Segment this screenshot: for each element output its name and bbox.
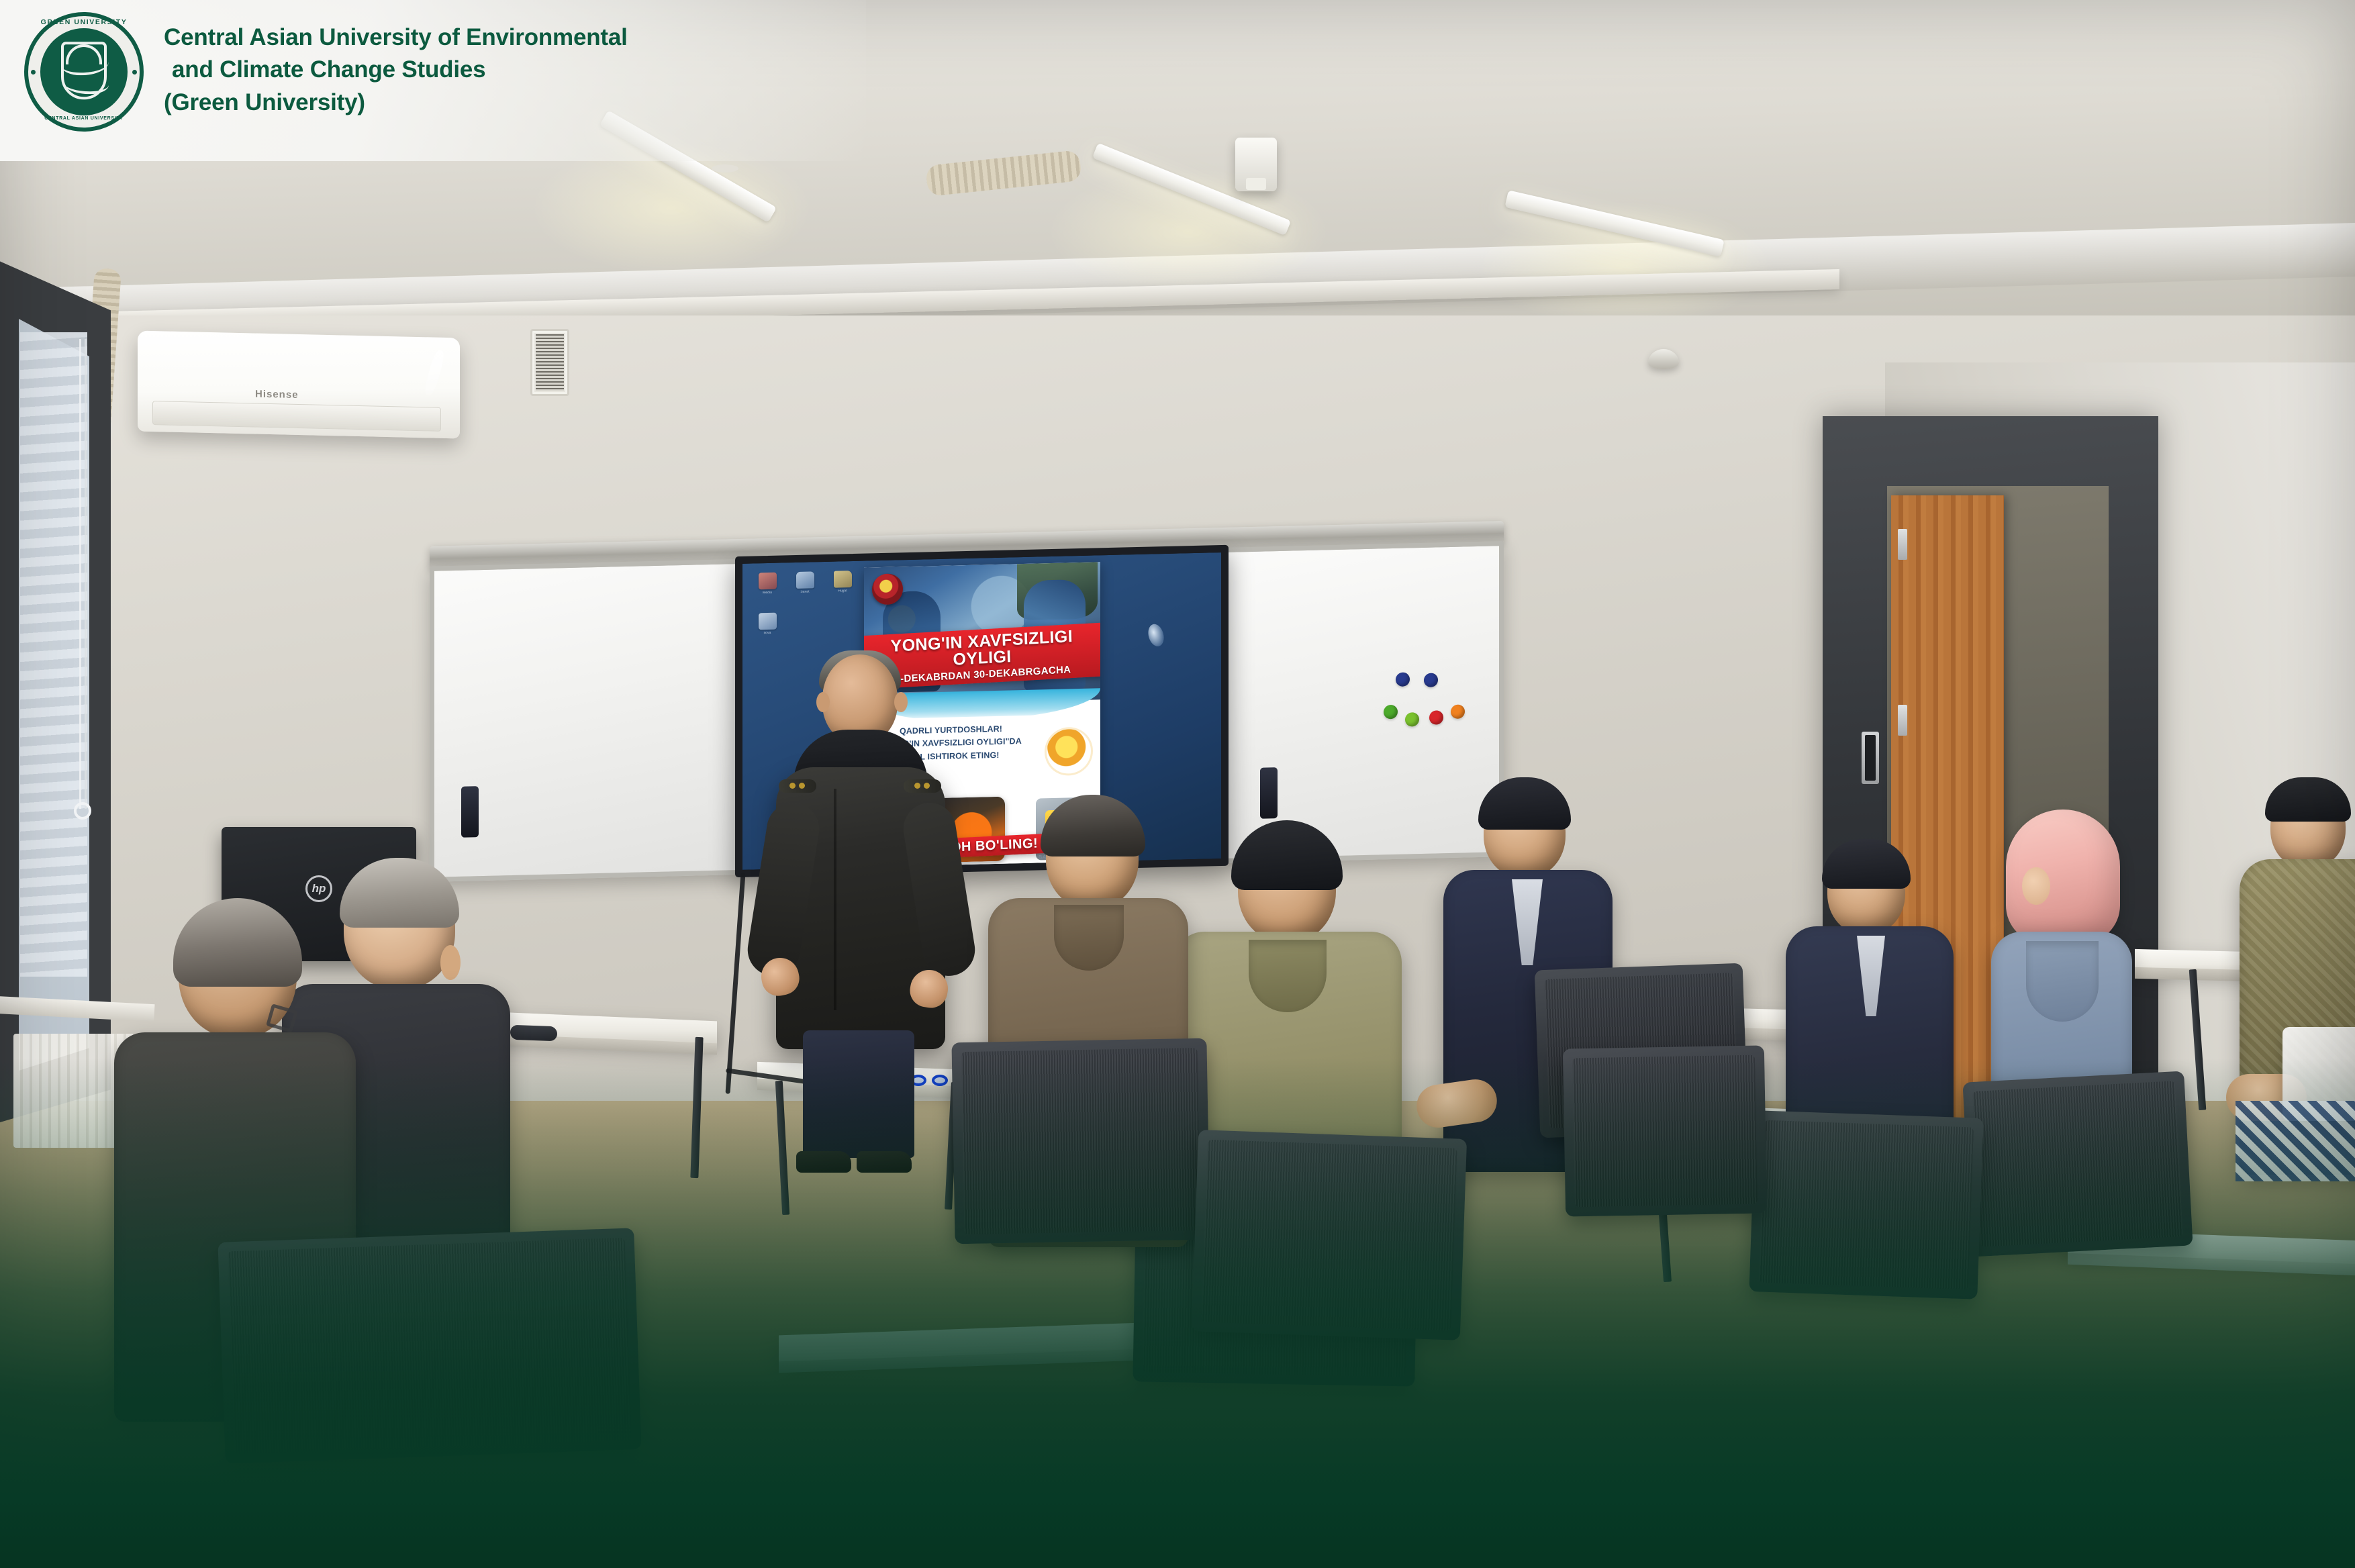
roller-blind[interactable] [20, 332, 87, 977]
presenter [752, 654, 967, 1151]
hair [1822, 839, 1911, 889]
chair[interactable] [1962, 1071, 2193, 1257]
magnet-green[interactable] [1384, 705, 1398, 719]
recycle-bin-icon [796, 571, 814, 589]
whiteboard-panel-left[interactable] [430, 559, 745, 882]
ear [440, 945, 461, 980]
app-shortcut-icon [759, 613, 777, 630]
checkered-sleeve [2236, 1101, 2355, 1181]
chair[interactable] [951, 1038, 1210, 1244]
door-hinge [1898, 529, 1907, 560]
media-player-icon[interactable]: Media [752, 572, 783, 607]
desktop-icon-label: Ilova [763, 632, 771, 636]
desktop-icon-label: Hujjat [838, 589, 847, 593]
door-hinge [1898, 705, 1907, 736]
documents-icon[interactable]: Hujjat [827, 571, 858, 606]
desktop-icon-grid: MediaSavatHujjatIlova [752, 571, 858, 648]
desktop-icon-label: Savat [800, 591, 809, 595]
presenter-shoe [796, 1151, 851, 1173]
whiteboard-marker[interactable] [461, 786, 479, 838]
grey-hair [173, 898, 302, 987]
ceiling-projector [1235, 138, 1277, 191]
hoodie-hood [2026, 941, 2099, 1022]
presenter-jacket-seam [834, 789, 836, 1010]
ac-brand-label: Hisense [255, 389, 299, 401]
chair-mesh [1759, 1120, 1974, 1290]
magnet-navy-1[interactable] [1396, 672, 1410, 686]
emergency-ministry-seal-icon [872, 573, 903, 605]
presenter-epaulette [779, 779, 816, 793]
presenter-ear [894, 692, 908, 712]
presenter-trousers [803, 1030, 914, 1158]
classroom-scene: Hisense [0, 0, 2355, 1568]
whiteboard-marker[interactable] [1260, 767, 1278, 819]
chair-mesh [228, 1238, 632, 1454]
chair[interactable] [218, 1228, 641, 1463]
air-conditioner: Hisense [138, 331, 460, 439]
magnet-red[interactable] [1429, 710, 1443, 724]
blind-cord[interactable] [85, 339, 87, 809]
magnet-navy-2[interactable] [1424, 673, 1438, 687]
magnet-lime[interactable] [1405, 712, 1419, 726]
blind-cord[interactable] [79, 339, 81, 809]
ac-louver [152, 401, 441, 432]
ventilation-grille [530, 329, 569, 396]
app-shortcut-icon[interactable]: Ilova [752, 612, 783, 648]
documents-icon [834, 571, 852, 588]
slide-tree-photo [1017, 562, 1098, 620]
screenshot-canvas: Hisense [0, 0, 2355, 1568]
card-reader[interactable] [1862, 732, 1879, 784]
hair [1041, 795, 1145, 856]
chair[interactable] [1749, 1110, 1983, 1300]
mouse-pointer-icon [1146, 622, 1167, 648]
recycle-bin-icon[interactable]: Savat [789, 571, 820, 607]
magnet-orange[interactable] [1451, 705, 1465, 719]
slide-badge-icon [1047, 729, 1091, 775]
blind-pull-ring[interactable] [74, 802, 91, 820]
face [2022, 867, 2050, 905]
media-player-icon [759, 573, 777, 590]
computer-mouse[interactable] [510, 1025, 557, 1041]
chair[interactable] [1192, 1130, 1467, 1340]
presenter-epaulette [904, 779, 941, 793]
presenter-shoe [857, 1151, 912, 1173]
window [0, 258, 111, 1124]
presenter-ear [816, 692, 830, 712]
smoke-detector-icon [712, 164, 738, 173]
chair-mesh [1201, 1140, 1457, 1331]
ac-highlight [423, 349, 446, 397]
chair-mesh [1572, 1055, 1758, 1208]
magnet-group [1367, 671, 1468, 734]
desktop-icon-label: Media [763, 591, 772, 595]
chair-mesh [961, 1048, 1201, 1234]
chair[interactable] [1563, 1045, 1767, 1216]
grey-hair [340, 858, 459, 928]
chair-mesh [1972, 1081, 2183, 1246]
